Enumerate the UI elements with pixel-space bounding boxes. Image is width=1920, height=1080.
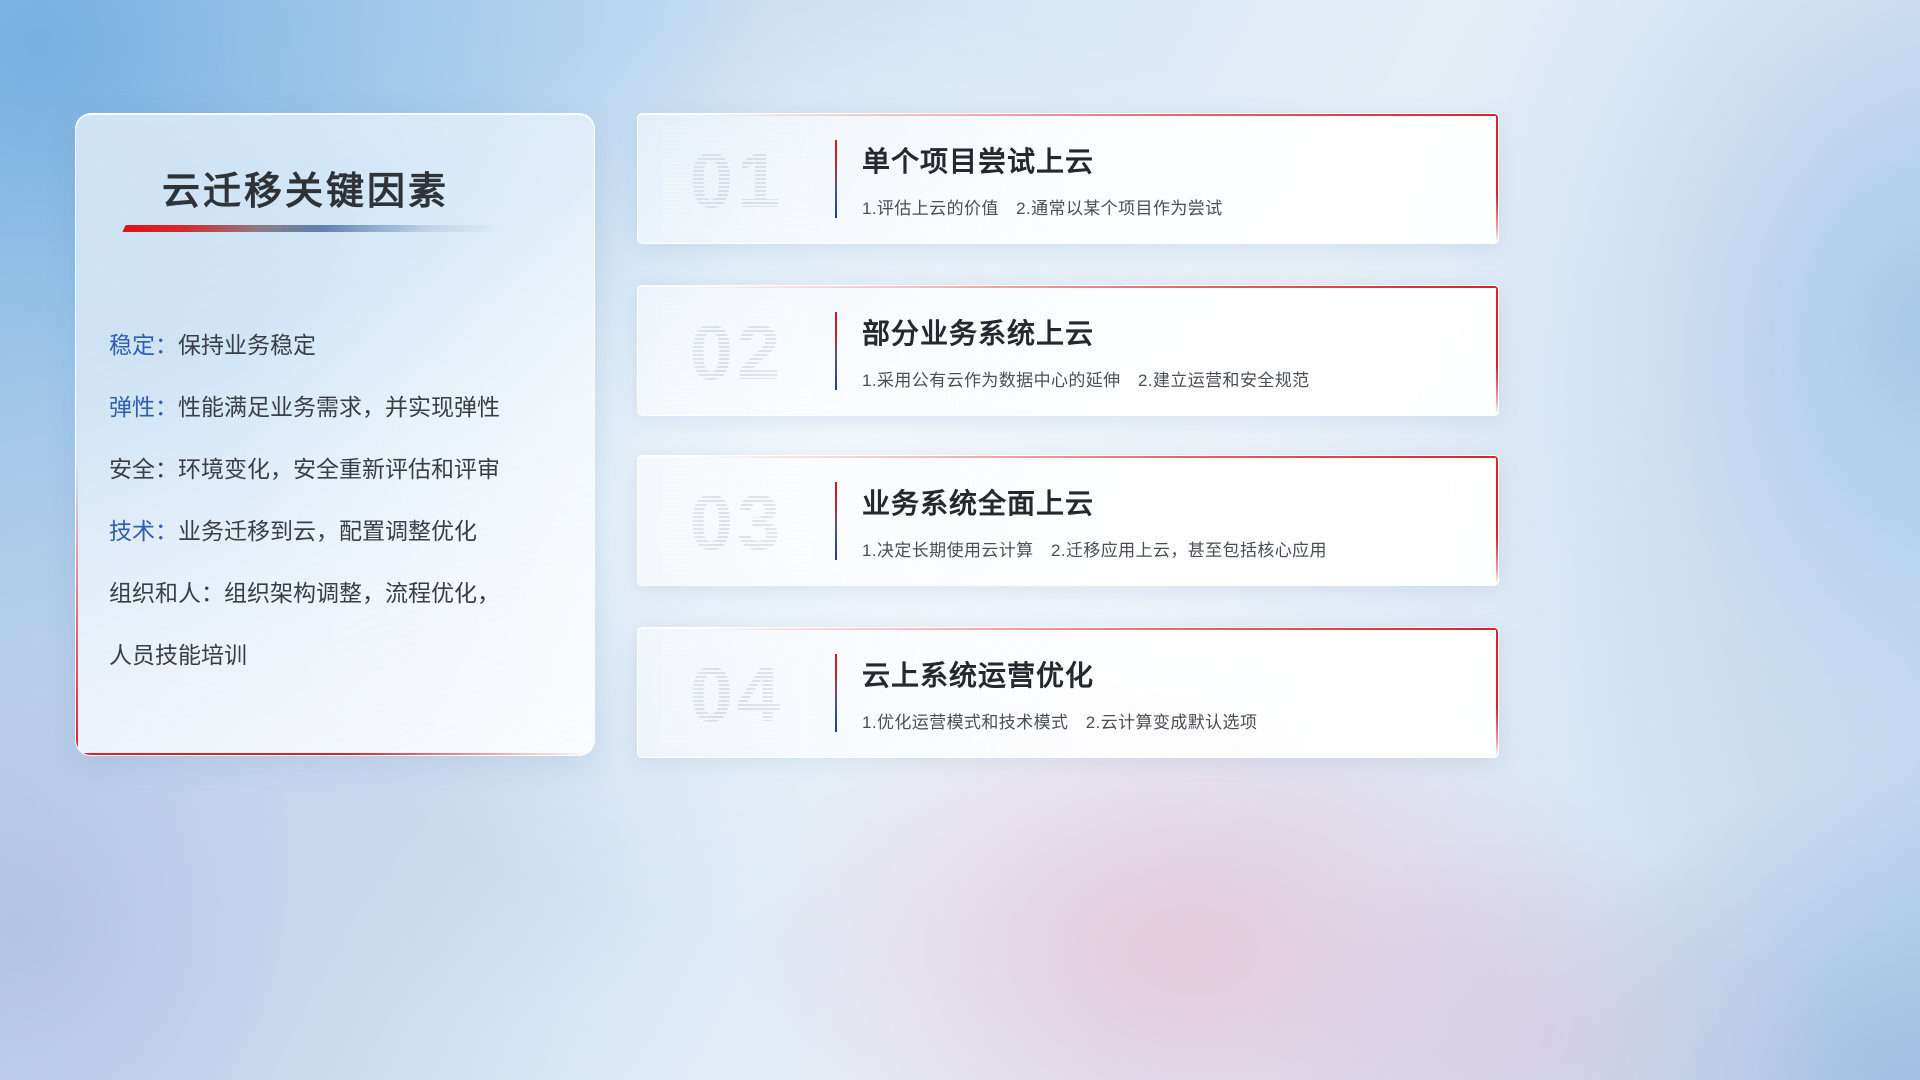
factor-item: 组织和人：组织架构调整，流程优化， [109,562,570,624]
card-right-accent-bar [1496,286,1498,415]
factor-label: 组织和人： [109,580,224,606]
factor-text: 人员技能培训 [109,642,247,668]
card-divider-bar [835,654,837,732]
stage-title: 云上系统运营优化 [862,654,1094,694]
card-divider-bar [835,140,837,218]
card-right-accent-bar [1496,456,1498,585]
factor-list: 稳定：保持业务稳定 弹性：性能满足业务需求，并实现弹性 安全：环境变化，安全重新… [109,314,570,686]
card-divider-bar [835,312,837,390]
title-underline-gradient [122,225,503,232]
factor-text: 组织架构调整，流程优化， [224,580,500,606]
card-top-accent-bar [690,628,1498,630]
stage-number-watermark: 02 [662,298,812,406]
slide-stage: 云迁移关键因素 稳定：保持业务稳定 弹性：性能满足业务需求，并实现弹性 安全：环… [0,0,1920,1080]
stage-number-watermark: 04 [662,640,812,748]
panel-left-accent-bar [76,460,78,755]
key-factors-panel: 云迁移关键因素 稳定：保持业务稳定 弹性：性能满足业务需求，并实现弹性 安全：环… [75,113,595,756]
factor-label: 技术： [109,518,178,544]
card-top-accent-bar [690,456,1498,458]
factor-item-continuation: 人员技能培训 [109,624,570,686]
factor-item: 安全：环境变化，安全重新评估和评审 [109,438,570,500]
factor-label: 稳定： [109,332,178,358]
stage-card-02[interactable]: 02 部分业务系统上云 1.采用公有云作为数据中心的延伸 2.建立运营和安全规范 [637,285,1499,416]
factor-text: 环境变化，安全重新评估和评审 [178,456,500,482]
factor-text: 业务迁移到云，配置调整优化 [178,518,477,544]
stage-description: 1.决定长期使用云计算 2.迁移应用上云，甚至包括核心应用 [862,536,1327,561]
stage-description: 1.评估上云的价值 2.通常以某个项目作为尝试 [862,194,1223,219]
card-right-accent-bar [1496,114,1498,243]
card-right-accent-bar [1496,628,1498,757]
factor-item: 稳定：保持业务稳定 [109,314,570,376]
factor-item: 弹性：性能满足业务需求，并实现弹性 [109,376,570,438]
stage-title: 单个项目尝试上云 [862,140,1094,180]
factor-label: 安全： [109,456,178,482]
stage-number-watermark: 01 [662,126,812,234]
stage-number-watermark: 03 [662,468,812,576]
stage-description: 1.优化运营模式和技术模式 2.云计算变成默认选项 [862,708,1257,733]
stage-card-04[interactable]: 04 云上系统运营优化 1.优化运营模式和技术模式 2.云计算变成默认选项 [637,627,1499,758]
stage-card-01[interactable]: 01 单个项目尝试上云 1.评估上云的价值 2.通常以某个项目作为尝试 [637,113,1499,244]
factor-text: 性能满足业务需求，并实现弹性 [178,394,500,420]
factor-item: 技术：业务迁移到云，配置调整优化 [109,500,570,562]
card-divider-bar [835,482,837,560]
panel-bottom-accent-bar [76,753,594,755]
stage-card-03[interactable]: 03 业务系统全面上云 1.决定长期使用云计算 2.迁移应用上云，甚至包括核心应… [637,455,1499,586]
stage-title: 部分业务系统上云 [862,312,1094,352]
card-top-accent-bar [690,286,1498,288]
card-top-accent-bar [690,114,1498,116]
panel-title: 云迁移关键因素 [162,160,449,215]
factor-label: 弹性： [109,394,178,420]
factor-text: 保持业务稳定 [178,332,316,358]
stage-description: 1.采用公有云作为数据中心的延伸 2.建立运营和安全规范 [862,366,1310,391]
stage-title: 业务系统全面上云 [862,482,1094,522]
